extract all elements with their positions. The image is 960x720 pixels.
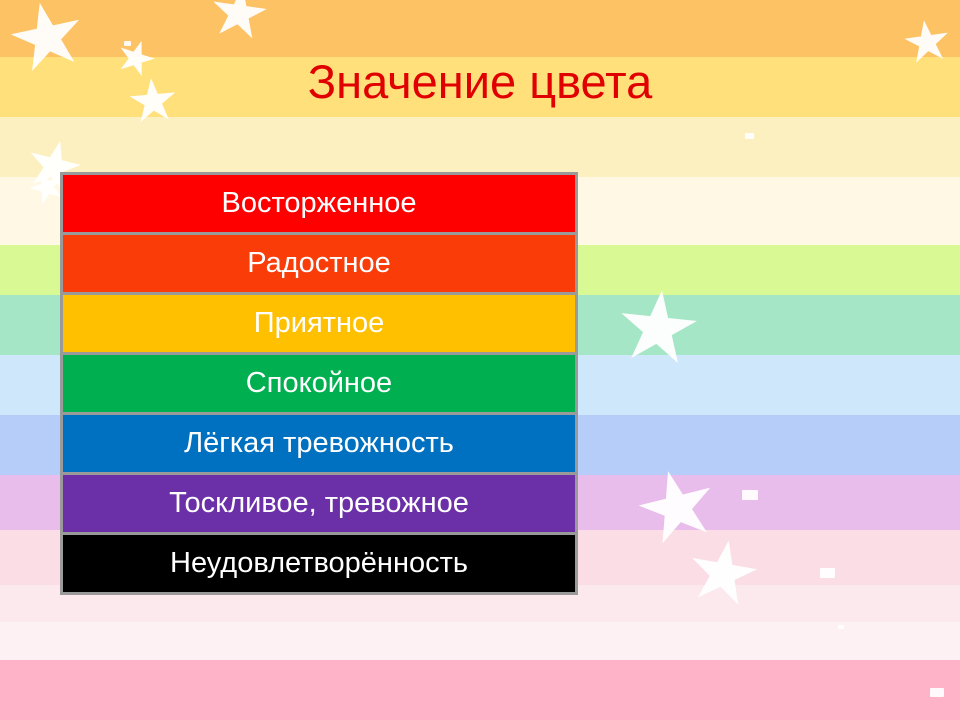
background-stripe xyxy=(0,622,960,660)
mood-row-label: Спокойное xyxy=(246,367,392,399)
page-title: Значение цвета xyxy=(0,58,960,105)
mood-row: Тоскливое, тревожное xyxy=(63,475,575,532)
slide-canvas: Значение цвета ВосторженноеРадостноеПрия… xyxy=(0,0,960,720)
background-stripe xyxy=(0,117,960,177)
background-stripe xyxy=(0,660,960,720)
mood-row: Спокойное xyxy=(63,355,575,412)
mood-row-label: Лёгкая тревожность xyxy=(184,427,454,459)
mood-color-table: ВосторженноеРадостноеПриятноеСпокойноеЛё… xyxy=(60,172,578,595)
mood-row: Радостное xyxy=(63,235,575,292)
mood-row-label: Неудовлетворённость xyxy=(170,547,468,579)
mood-row-label: Приятное xyxy=(254,307,384,339)
mood-row: Приятное xyxy=(63,295,575,352)
mood-row: Неудовлетворённость xyxy=(63,535,575,592)
mood-row-label: Восторженное xyxy=(222,187,417,219)
mood-row-label: Радостное xyxy=(247,247,391,279)
mood-row-label: Тоскливое, тревожное xyxy=(169,487,469,519)
background-stripe xyxy=(0,0,960,57)
mood-row: Лёгкая тревожность xyxy=(63,415,575,472)
mood-row: Восторженное xyxy=(63,175,575,232)
